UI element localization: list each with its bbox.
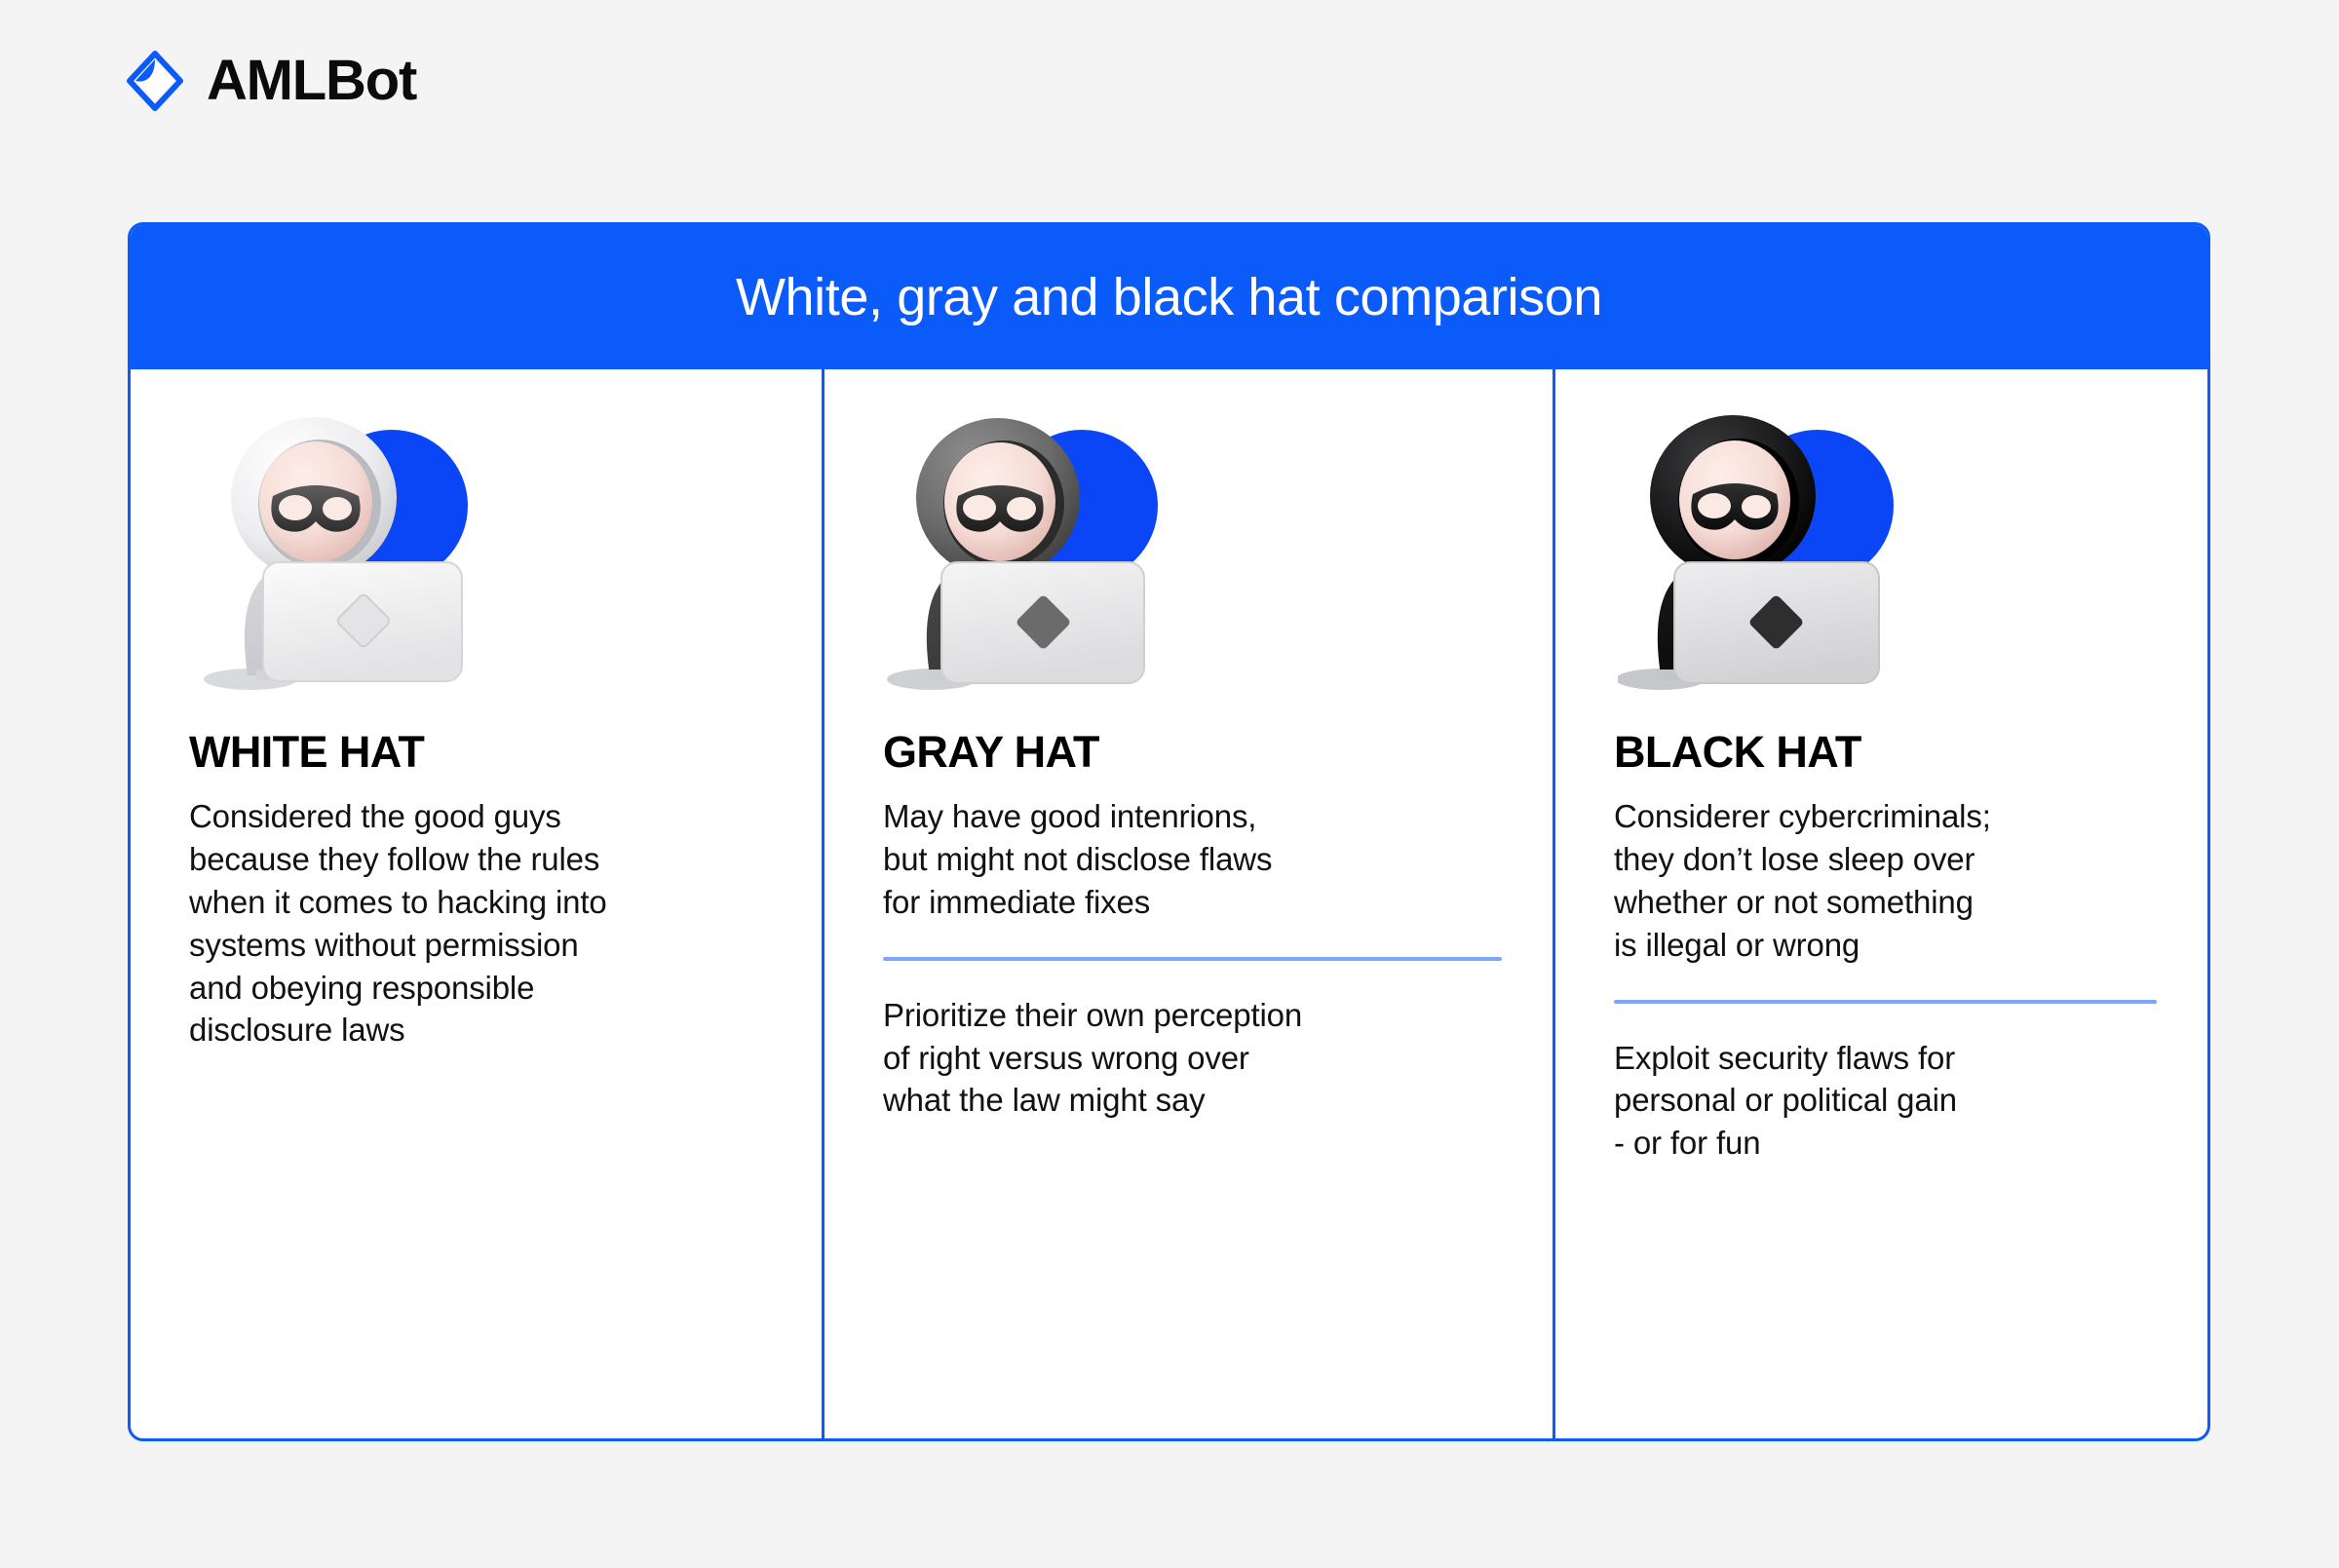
- column-white-hat: WHITE HAT Considered the good guys becau…: [131, 369, 822, 1441]
- black-hat-hacker-illustration: [1618, 414, 1939, 697]
- column-black-hat: BLACK HAT Considerer cybercriminals; the…: [1553, 369, 2207, 1441]
- category-paragraph: Considered the good guys because they fo…: [189, 795, 771, 1052]
- category-heading: WHITE HAT: [189, 730, 771, 774]
- category-paragraph: May have good intenrions, but might not …: [883, 795, 1502, 924]
- brand-name: AMLBot: [207, 53, 416, 109]
- gray-hat-hacker-illustration: [885, 414, 1207, 697]
- amlbot-diamond-icon: [125, 51, 185, 111]
- category-paragraph-secondary: Prioritize their own perception of right…: [883, 994, 1502, 1123]
- page-title: White, gray and black hat comparison: [736, 271, 1602, 324]
- category-heading: BLACK HAT: [1614, 730, 2157, 774]
- category-heading: GRAY HAT: [883, 730, 1502, 774]
- category-paragraph-secondary: Exploit security flaws for personal or p…: [1614, 1037, 2157, 1166]
- card-header: White, gray and black hat comparison: [131, 225, 2207, 369]
- brand-logo: AMLBot: [125, 51, 416, 111]
- card-body: WHITE HAT Considered the good guys becau…: [131, 369, 2207, 1441]
- section-divider: [883, 957, 1502, 961]
- white-hat-hacker-illustration: [197, 414, 518, 697]
- column-gray-hat: GRAY HAT May have good intenrions, but m…: [822, 369, 1553, 1441]
- section-divider: [1614, 1000, 2157, 1004]
- comparison-card: White, gray and black hat comparison: [128, 222, 2210, 1441]
- category-paragraph: Considerer cybercriminals; they don’t lo…: [1614, 795, 2157, 967]
